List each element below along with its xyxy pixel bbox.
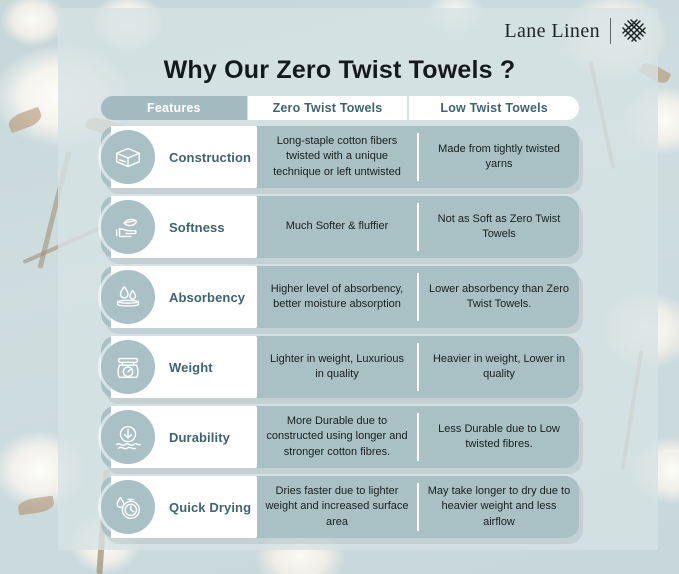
feature-cell: Durability <box>111 406 257 468</box>
column-divider <box>417 203 419 251</box>
column-divider <box>417 483 419 531</box>
cotton-husk-decoration <box>17 496 55 516</box>
feature-label: Absorbency <box>169 290 245 305</box>
table-header-row: Features Zero Twist Towels Low Twist Tow… <box>101 96 579 120</box>
page-title: Why Our Zero Twist Towels ? <box>0 56 679 85</box>
low-twist-description: Less Durable due to Low twisted fibres. <box>419 406 579 468</box>
table-row: Absorbency Higher level of absorbency, b… <box>101 266 579 328</box>
low-twist-description: Made from tightly twisted yarns <box>419 126 579 188</box>
brand-name: Lane Linen <box>504 20 600 43</box>
low-twist-description: Not as Soft as Zero Twist Towels <box>419 196 579 258</box>
column-header-features: Features <box>101 96 247 120</box>
low-twist-description: May take longer to dry due to heavier we… <box>419 476 579 538</box>
cotton-husk-decoration <box>6 107 43 134</box>
column-divider <box>417 273 419 321</box>
table-row: Softness Much Softer & fluffier Not as S… <box>101 196 579 258</box>
brand-lockup: Lane Linen <box>504 18 647 44</box>
column-divider <box>417 133 419 181</box>
comparison-table: Features Zero Twist Towels Low Twist Tow… <box>101 96 579 546</box>
brand-divider <box>610 18 611 44</box>
table-row: Construction Long-staple cotton fibers t… <box>101 126 579 188</box>
down-arrow-waves-icon <box>101 410 155 464</box>
stopwatch-drop-icon <box>101 480 155 534</box>
feature-cell: Absorbency <box>111 266 257 328</box>
feature-label: Quick Drying <box>169 500 251 515</box>
folded-towel-icon <box>101 130 155 184</box>
low-twist-description: Heavier in weight, Lower in quality <box>419 336 579 398</box>
table-row: Weight Lighter in weight, Luxurious in q… <box>101 336 579 398</box>
feature-label: Weight <box>169 360 213 375</box>
hand-feather-icon <box>101 200 155 254</box>
feature-cell: Construction <box>111 126 257 188</box>
low-twist-description: Lower absorbency than Zero Twist Towels. <box>419 266 579 328</box>
feature-cell: Softness <box>111 196 257 258</box>
zero-twist-description: Dries faster due to lighter weight and i… <box>257 476 417 538</box>
feature-cell: Quick Drying <box>111 476 257 538</box>
feature-label: Durability <box>169 430 230 445</box>
feature-label: Softness <box>169 220 225 235</box>
table-row: Durability More Durable due to construct… <box>101 406 579 468</box>
zero-twist-description: Higher level of absorbency, better moist… <box>257 266 417 328</box>
feature-label: Construction <box>169 150 251 165</box>
zero-twist-description: More Durable due to constructed using lo… <box>257 406 417 468</box>
zero-twist-description: Much Softer & fluffier <box>257 196 417 258</box>
zero-twist-description: Long-staple cotton fibers twisted with a… <box>257 126 417 188</box>
column-divider <box>417 413 419 461</box>
table-row: Quick Drying Dries faster due to lighter… <box>101 476 579 538</box>
feature-cell: Weight <box>111 336 257 398</box>
column-header-zero-twist-towels: Zero Twist Towels <box>248 96 408 120</box>
column-divider <box>417 343 419 391</box>
zero-twist-description: Lighter in weight, Luxurious in quality <box>257 336 417 398</box>
woven-diamond-logo-icon <box>621 18 647 44</box>
column-header-low-twist-towels: Low Twist Towels <box>409 96 579 120</box>
infographic-root: Lane Linen Why Our Zero Twist Towels ? F… <box>0 0 679 574</box>
kitchen-scale-icon <box>101 340 155 394</box>
water-drops-towel-icon <box>101 270 155 324</box>
